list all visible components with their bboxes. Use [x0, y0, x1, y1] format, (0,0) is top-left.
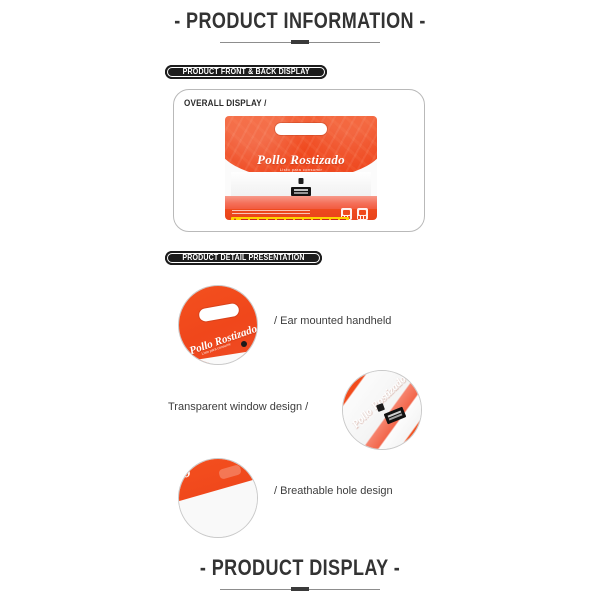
bottom-title: - PRODUCT DISPLAY - — [54, 557, 546, 579]
bag-brand-text: Pollo Rostizado — [225, 153, 377, 166]
overall-display-card: OVERALL DISPLAY / Pollo Rostizado Listo … — [173, 89, 425, 232]
bag-warning-strip — [231, 217, 349, 220]
page-title: - PRODUCT INFORMATION - — [54, 10, 546, 32]
detail-caption-ear-mounted-handheld: / Ear mounted handheld — [274, 316, 391, 327]
product-bag-image: Pollo Rostizado Listo para consumir — [225, 116, 377, 220]
badge-label: PRODUCT DETAIL PRESENTATION — [182, 254, 304, 262]
title-divider — [220, 39, 380, 46]
detail-image-transparent-window: Pollo Rostizado Listo para consumir — [342, 370, 422, 450]
detail-image-ear-mounted-handheld: Pollo Rostizado Listo para consumir — [178, 285, 258, 365]
bag-vent-hole — [299, 178, 304, 184]
product-display-heading: - PRODUCT DISPLAY - — [0, 557, 600, 593]
bag-die-cut-handle — [275, 123, 327, 135]
detail-caption-transparent-window: Transparent window design / — [168, 402, 308, 413]
bag-fineprint-text — [232, 210, 310, 216]
badge-label: PRODUCT FRONT & BACK DISPLAY — [183, 68, 310, 76]
bag-pink-band — [225, 196, 377, 209]
overall-display-label: OVERALL DISPLAY / — [184, 98, 267, 108]
divider-nub — [291, 40, 309, 44]
bag-black-label — [291, 187, 311, 196]
detail-image-breathable-hole: o — [178, 458, 258, 538]
product-information-heading: - PRODUCT INFORMATION - — [0, 10, 600, 46]
detail-caption-breathable-hole: / Breathable hole design — [274, 486, 393, 497]
divider-nub — [291, 587, 309, 591]
bag-icon-badge-2 — [357, 208, 368, 220]
badge-detail-presentation: PRODUCT DETAIL PRESENTATION — [165, 251, 322, 265]
circle-vent-dot — [241, 341, 247, 347]
badge-front-back-display: PRODUCT FRONT & BACK DISPLAY — [165, 65, 327, 79]
title-divider — [220, 586, 380, 593]
